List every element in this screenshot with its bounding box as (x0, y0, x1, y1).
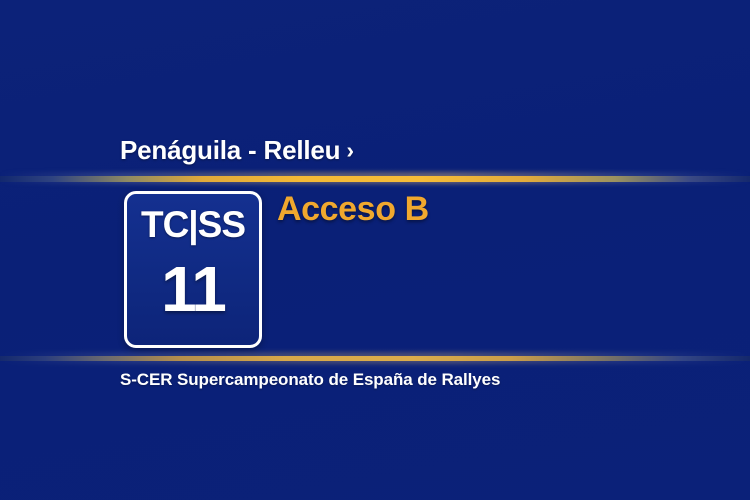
stage-plate-number: 11 (161, 257, 225, 321)
rally-stage-access-card: Penáguila - Relleu› TC|SS 11 Acceso B S-… (0, 0, 750, 500)
access-label: Acceso B (277, 192, 429, 226)
championship-label: S-CER Supercampeonato de España de Rally… (120, 371, 500, 388)
chevron-right-icon: › (346, 139, 353, 162)
stage-name-text: Penáguila - Relleu (120, 135, 340, 165)
divider-band-bottom (0, 356, 750, 361)
divider-glow-bottom (0, 352, 750, 364)
divider-glow-top (0, 172, 750, 184)
stage-plate-code: TC|SS (141, 206, 245, 243)
stage-plate: TC|SS 11 (124, 191, 262, 348)
stage-title: Penáguila - Relleu› (120, 137, 354, 163)
divider-band-top (0, 176, 750, 182)
